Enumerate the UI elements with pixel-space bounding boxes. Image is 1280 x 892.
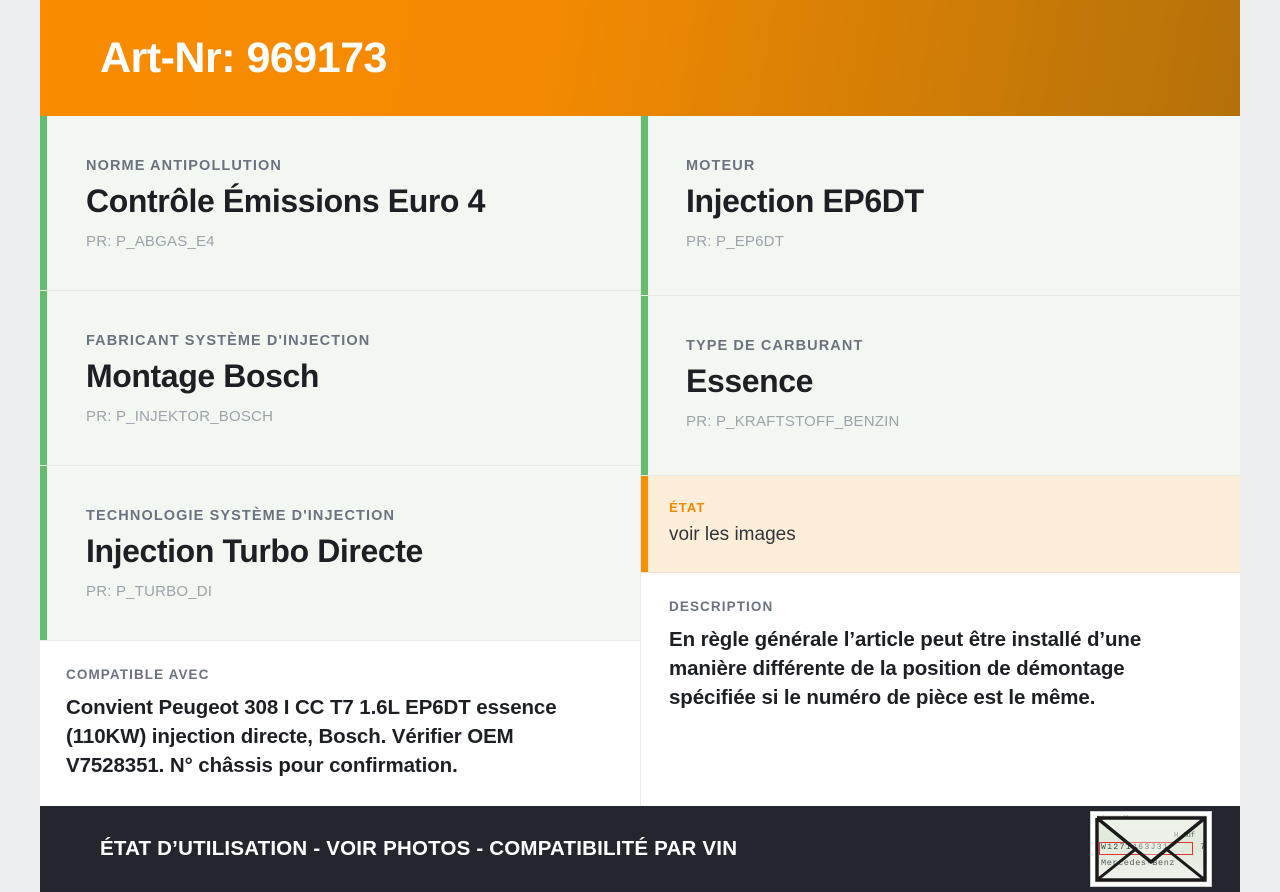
spec-cell-norme-antipollution: NORME ANTIPOLLUTION Contrôle Émissions E… [40, 116, 640, 291]
footer-banner-text: ÉTAT D’UTILISATION - VOIR PHOTOS - COMPA… [100, 837, 737, 861]
etat-label: ÉTAT [669, 500, 1195, 515]
spec-cell-fabricant-injection: FABRICANT SYSTÈME D'INJECTION Montage Bo… [40, 291, 640, 466]
spec-label: NORME ANTIPOLLUTION [86, 158, 594, 174]
spec-value: Contrôle Émissions Euro 4 [86, 183, 594, 221]
spec-label: TECHNOLOGIE SYSTÈME D'INJECTION [86, 508, 594, 524]
left-column: NORME ANTIPOLLUTION Contrôle Émissions E… [40, 116, 640, 806]
spec-grid: NORME ANTIPOLLUTION Contrôle Émissions E… [40, 116, 1240, 806]
spec-label: MOTEUR [686, 158, 1194, 174]
spec-pr-code: PR: P_ABGAS_E4 [86, 233, 594, 250]
spec-pr-code: PR: P_EP6DT [686, 233, 1194, 250]
spec-value: Injection Turbo Directe [86, 533, 594, 571]
spec-pr-code: PR: P_INJEKTOR_BOSCH [86, 408, 594, 425]
spec-label: TYPE DE CARBURANT [686, 338, 1194, 354]
spec-pr-code: PR: P_TURBO_DI [86, 583, 594, 600]
spec-pr-code: PR: P_KRAFTSTOFF_BENZIN [686, 413, 1194, 430]
etat-value: voir les images [669, 524, 1195, 546]
spec-cell-moteur: MOTEUR Injection EP6DT PR: P_EP6DT [641, 116, 1240, 296]
article-card: Art-Nr: 969173 NORME ANTIPOLLUTION Contr… [40, 0, 1240, 892]
spec-cell-technologie-injection: TECHNOLOGIE SYSTÈME D'INJECTION Injectio… [40, 466, 640, 641]
description-block: DESCRIPTION En règle générale l’article … [641, 573, 1240, 806]
description-label: DESCRIPTION [669, 599, 1210, 614]
spec-cell-type-carburant: TYPE DE CARBURANT Essence PR: P_KRAFTSTO… [641, 296, 1240, 476]
page-title: Art-Nr: 969173 [100, 34, 387, 83]
card-footer: ÉTAT D’UTILISATION - VOIR PHOTOS - COMPA… [40, 806, 1240, 892]
vin-document-thumbnail[interactable]: Fahrgestellnr. H Auf W1271463J31 7 Merce… [1090, 811, 1212, 887]
spec-value: Injection EP6DT [686, 183, 1194, 221]
compatibility-block: COMPATIBLE AVEC Convient Peugeot 308 I C… [40, 641, 640, 806]
spec-label: FABRICANT SYSTÈME D'INJECTION [86, 333, 594, 349]
spec-value: Montage Bosch [86, 358, 594, 396]
envelope-icon [1091, 812, 1211, 886]
right-column: MOTEUR Injection EP6DT PR: P_EP6DT TYPE … [640, 116, 1240, 806]
etat-panel: ÉTAT voir les images [641, 476, 1240, 573]
spec-value: Essence [686, 363, 1194, 401]
card-header: Art-Nr: 969173 [40, 0, 1240, 116]
compatibility-label: COMPATIBLE AVEC [66, 667, 606, 682]
description-text: En règle générale l’article peut être in… [669, 625, 1210, 712]
compatibility-text: Convient Peugeot 308 I CC T7 1.6L EP6DT … [66, 693, 606, 780]
